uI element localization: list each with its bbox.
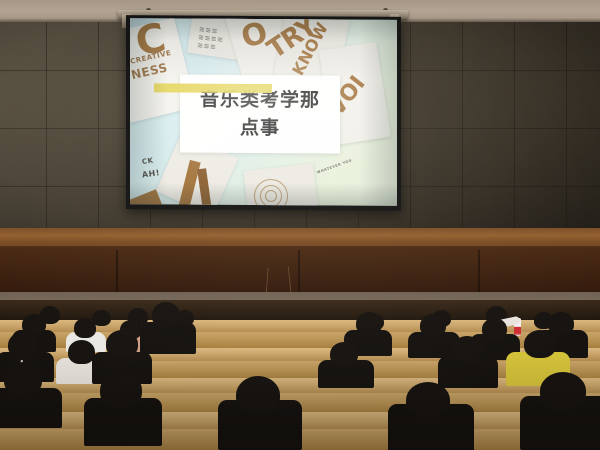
projection-screen: C O TRY KNOW VOI CREATIVE NESS CK AH! WH… bbox=[126, 15, 401, 211]
student-head-r2-1 bbox=[8, 332, 38, 358]
student-head-r3-4 bbox=[152, 302, 180, 328]
slide-word-whatever: WHATEVER YOU bbox=[317, 159, 353, 175]
student-head-r2-2 bbox=[68, 340, 95, 364]
slide-title-highlight-bar bbox=[154, 83, 272, 93]
student-head-r3-5 bbox=[356, 312, 382, 335]
lecture-hall-photo: C O TRY KNOW VOI CREATIVE NESS CK AH! WH… bbox=[0, 0, 600, 450]
student-head-r3-7 bbox=[482, 318, 507, 340]
student-head-r1-3 bbox=[236, 376, 280, 414]
stage-desk-seam-3 bbox=[478, 250, 480, 294]
student-head-r2-5 bbox=[452, 336, 482, 362]
student-head-r1-4 bbox=[406, 382, 450, 418]
student-head-r3-6 bbox=[420, 314, 446, 337]
student-head-r1-2 bbox=[100, 372, 142, 408]
student-head-r2-4 bbox=[330, 342, 358, 366]
student-head-r3-8 bbox=[548, 312, 574, 335]
stage-desk-seam-1 bbox=[116, 250, 118, 294]
slide-bar-c bbox=[130, 189, 162, 206]
slide-scribble-cluster: ≋≋≋≋≋≋≋≋≋≋ bbox=[197, 25, 225, 52]
slide-word-ck: CK bbox=[142, 158, 154, 166]
student-head-r3-2 bbox=[74, 318, 96, 338]
slide-fingerprint-inner bbox=[265, 190, 277, 202]
student-head-r1-1 bbox=[4, 362, 42, 396]
slide-word-ah: AH! bbox=[142, 169, 161, 179]
stage-desk bbox=[0, 244, 600, 294]
projected-slide: C O TRY KNOW VOI CREATIVE NESS CK AH! WH… bbox=[130, 18, 397, 206]
student-head-r2-3 bbox=[106, 330, 138, 358]
student-head-r2-6 bbox=[524, 330, 556, 358]
slide-title-line-2: 点事 bbox=[180, 112, 340, 140]
student-head-r1-5 bbox=[540, 372, 586, 410]
